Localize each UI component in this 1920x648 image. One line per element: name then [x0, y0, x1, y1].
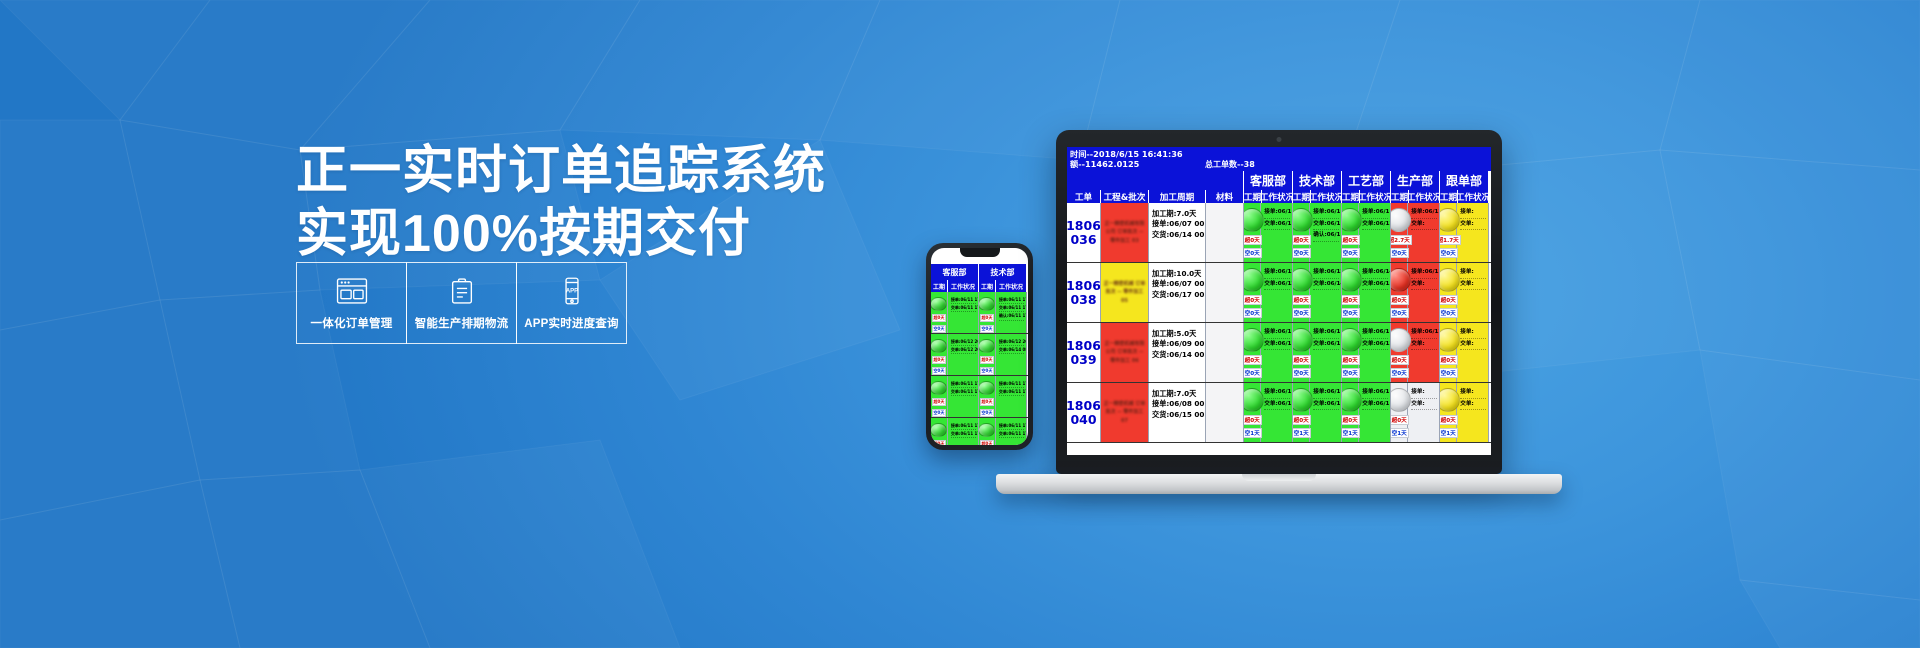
dept-header-3: 生产部: [1391, 171, 1440, 190]
over-days-tag: 超0天: [1293, 355, 1311, 365]
cycle-line: 交货:06/14 00: [1152, 230, 1203, 240]
dept-cell-4[interactable]: 超0天 空1天 接单:交单:: [1440, 383, 1489, 442]
dept-status-line: 交单:06/11 17: [951, 388, 976, 396]
order-number-part: 038: [1070, 293, 1096, 307]
dept-work-status: 接单:06/12 20交单:06/12 20: [948, 334, 978, 375]
col-header-status-2: 工作状况: [1360, 190, 1391, 203]
phone-notch: [960, 248, 1000, 257]
dept-duration: 超0天 空0天: [1293, 323, 1310, 382]
cycle-line: 加工期:10.0天: [1152, 269, 1203, 279]
idle-days-tag: 空0天: [1342, 368, 1360, 378]
webcam-icon: [1277, 137, 1282, 142]
dept-status-line: 交单:06/11 17: [999, 430, 1024, 438]
dept-status-line: 交单:06/11 17: [999, 304, 1024, 312]
dept-cell-0[interactable]: 超0天 空1天 接单:06/11 17交单:06/11 17: [1244, 383, 1293, 442]
dept-status-line: 接单:06/11 17: [1362, 387, 1388, 399]
dept-cell-2[interactable]: 超0天 空1天 接单:06/11 17交单:06/11 17: [1342, 383, 1391, 442]
erp-amount-label: 额--11462.0125: [1070, 159, 1183, 169]
idle-days-tag: 空0天: [932, 325, 947, 333]
project-batch-cell: 正一精密机械有限公司 订单批次 -- 零件加工 06: [1101, 323, 1149, 382]
dept-status-line: 接单:06/11 17: [951, 380, 976, 388]
phone-body: 客服部技术部工期 工作状况工期 工作状况 超0天 空0天 接单:06/11 17…: [926, 243, 1033, 450]
processing-cycle-cell: 加工期:7.0天接单:06/08 00交货:06/15 00: [1149, 383, 1206, 442]
project-batch-cell: 正一精密机械 订单批次 -- 零件加工 05: [1101, 263, 1149, 322]
dept-status-line: 接单:06/12 20: [1264, 267, 1290, 279]
idle-days-tag: 空0天: [1440, 368, 1458, 378]
order-number-part: 039: [1070, 353, 1096, 367]
order-number-part: 1806: [1067, 339, 1101, 353]
phone-table-body: 超0天 空0天 接单:06/11 17交单:06/11 17 超0天 空0天 接…: [931, 292, 1028, 445]
phone-col-status-0: 工作状况: [948, 280, 979, 292]
table-row[interactable]: 1806038 正一精密机械 订单批次 -- 零件加工 05 加工期:10.0天…: [1067, 263, 1491, 323]
idle-days-tag: 空0天: [1342, 248, 1360, 258]
cycle-line: 接单:06/07 00: [1152, 279, 1203, 289]
table-row[interactable]: 1806036 正一精密机械有限公司 订单批次 -- 零件加工 03 加工期:7…: [1067, 203, 1491, 263]
order-number-part: 040: [1070, 413, 1096, 427]
project-batch-text: 正一精密机械 订单批次 -- 零件加工 07: [1101, 400, 1148, 426]
over-days-tag: 超0天: [980, 314, 995, 322]
dept-work-status: 接单:06/12 20交单:06/14 08: [996, 334, 1026, 375]
dept-status-line: 接单:06/11 17: [999, 380, 1024, 388]
status-lamp-icon: [979, 423, 995, 437]
over-days-tag: 超0天: [1244, 355, 1262, 365]
idle-days-tag: 空1天: [1244, 428, 1262, 438]
dept-status-line: 交单:06/11 17: [1264, 339, 1290, 351]
dept-work-status: 接单:06/11 17交单:06/11 17: [1310, 383, 1341, 442]
dept-header-2: 工艺部: [1342, 171, 1391, 190]
processing-cycle-cell: 加工期:7.0天接单:06/07 00交货:06/14 00: [1149, 203, 1206, 262]
dept-work-status: 接单:交单:: [1457, 203, 1488, 262]
dept-status-line: 交单:: [1460, 399, 1486, 411]
dept-duration: 超0天 空0天: [1244, 263, 1261, 322]
dept-work-status: 接单:06/12 20交单:06/14 08: [1310, 263, 1341, 322]
dept-status-line: 接单:06/12 20: [951, 338, 976, 346]
phone-dept-header-1: 技术部: [979, 264, 1027, 280]
status-lamp-icon: [979, 297, 995, 311]
dept-status-line: 接单:06/11 17: [999, 296, 1024, 304]
dept-duration: 超0天 空1天: [1440, 383, 1457, 442]
dept-work-status: 接单:06/14 08交单:06/15 16: [1359, 263, 1390, 322]
dept-cell-3[interactable]: 超0天 空1天 接单:交单:: [1391, 383, 1440, 442]
dept-duration: 超0天 空0天: [1244, 203, 1261, 262]
dept-cell-3[interactable]: 超0天 空0天 接单:06/15 16交单:: [1391, 263, 1440, 322]
dept-status-line: 确认:06/11 17: [999, 312, 1024, 320]
dept-work-status: 接单:06/11 17交单:06/11 17: [996, 376, 1026, 417]
dept-status-line: 交单:06/14 08: [999, 346, 1024, 354]
dept-cell-2[interactable]: 超0天 空0天 接单:06/11 17交单:06/12 09: [1342, 323, 1391, 382]
phone-subheader-row: 工期 工作状况工期 工作状况: [931, 280, 1028, 292]
laptop-base: [996, 474, 1562, 494]
material-cell: [1206, 263, 1244, 322]
processing-cycle-cell: 加工期:10.0天接单:06/07 00交货:06/17 00: [1149, 263, 1206, 322]
over-days-tag: 超0天: [980, 398, 995, 406]
dept-duration: 超0天 空0天: [1342, 203, 1359, 262]
erp-topbar-left: 时间--2018/6/15 16:41:36 额--11462.0125: [1070, 149, 1183, 170]
dept-status-line: 接单:06/11 17: [1264, 327, 1290, 339]
dept-duration: 超0天 空0天: [1293, 263, 1310, 322]
cycle-line: 加工期:7.0天: [1152, 389, 1203, 399]
dept-header-spacer: [1067, 171, 1244, 190]
dept-duration: 超0天 空0天: [1391, 263, 1408, 322]
erp-order-tracking-table[interactable]: 时间--2018/6/15 16:41:36 额--11462.0125 总工单…: [1067, 147, 1491, 443]
over-days-tag: 超0天: [1440, 355, 1458, 365]
dept-status-line: 接单:06/12 20: [1313, 267, 1339, 279]
dept-duration: 超0天 空1天: [1293, 383, 1310, 442]
dept-work-status: 接单:06/12 20交单:06/12 20: [1261, 263, 1292, 322]
dept-cell-1[interactable]: 超0天 空0天 接单:06/12 20交单:06/14 08: [1293, 263, 1342, 322]
dept-status-line: 交单:: [1411, 339, 1437, 351]
dept-status-line: 交单:06/11 17: [1313, 399, 1339, 411]
material-cell: [1206, 383, 1244, 442]
dept-status-line: 交单:: [1460, 279, 1486, 291]
idle-days-tag: 空0天: [1244, 308, 1262, 318]
dept-duration: 超0天 空0天: [931, 292, 948, 333]
idle-days-tag: 空0天: [1440, 248, 1458, 258]
dept-duration: 超0天 空0天: [1440, 323, 1457, 382]
col-header-3: 材料: [1206, 190, 1244, 203]
dept-status-line: 交单:06/12 09: [1362, 339, 1388, 351]
status-lamp-icon: [931, 339, 947, 353]
dept-status-line: 交单:: [1411, 279, 1437, 291]
col-header-1: 工程&批次: [1101, 190, 1149, 203]
dept-work-status: 接单:交单:: [1457, 323, 1488, 382]
idle-days-tag: 空0天: [932, 409, 947, 417]
dept-duration: 超0天 空0天: [979, 292, 996, 333]
phone-dept-cell-1[interactable]: 超0天 空0天 接单:06/11 17交单:06/11 17确认:06/11 1…: [979, 292, 1027, 333]
dept-header-4: 跟单部: [1440, 171, 1489, 190]
cycle-line: 交货:06/17 00: [1152, 290, 1203, 300]
cycle-line: 交货:06/15 00: [1152, 410, 1203, 420]
dept-status-line: 交单:06/11 17: [951, 304, 976, 312]
erp-time-label: 时间--2018/6/15 16:41:36: [1070, 149, 1183, 159]
dept-status-line: 交单:06/11 17: [1313, 219, 1339, 231]
dept-work-status: 接单:06/11 17交单:06/11 17: [1261, 323, 1292, 382]
over-days-tag: 超0天: [1440, 415, 1458, 425]
dept-cell-4[interactable]: 超0天 空0天 接单:交单:: [1440, 323, 1489, 382]
dept-status-line: 接单:: [1460, 327, 1486, 339]
dept-duration: 超2.7天 空0天: [1391, 203, 1408, 262]
erp-total-orders-label: 总工单数--38: [1205, 159, 1255, 170]
project-batch-text: 正一精密机械 订单批次 -- 零件加工 05: [1101, 280, 1148, 306]
dept-cell-1[interactable]: 超0天 空1天 接单:06/11 17交单:06/11 17: [1293, 383, 1342, 442]
phone-dept-cell-1[interactable]: 超0天 空1天 接单:06/11 17交单:06/11 17: [979, 418, 1027, 445]
dept-status-line: 交单:: [1411, 399, 1437, 411]
over-days-tag: 超0天: [1293, 415, 1311, 425]
order-number-part: 036: [1070, 233, 1096, 247]
phone-dept-cell-0[interactable]: 超0天 空0天 接单:06/12 20交单:06/12 20: [931, 334, 979, 375]
dept-duration: 超0天 空0天: [1391, 323, 1408, 382]
dept-header-0: 客服部: [1244, 171, 1293, 190]
idle-days-tag: 空0天: [1293, 368, 1311, 378]
dept-status-line: 交单:06/11 17: [951, 430, 976, 438]
idle-days-tag: 空1天: [1293, 428, 1311, 438]
over-days-tag: 超0天: [1244, 295, 1262, 305]
order-number-part: 1806: [1067, 219, 1101, 233]
dept-work-status: 接单:06/12 09交单:: [1408, 323, 1439, 382]
over-days-tag: 超0天: [980, 440, 995, 445]
over-days-tag: 超0天: [1293, 235, 1311, 245]
phone-col-status-1: 工作状况: [996, 280, 1027, 292]
table-row[interactable]: 超0天 空0天 接单:06/12 20交单:06/12 20 超0天 空0天 接…: [931, 334, 1028, 376]
dept-status-line: 接单:06/12 09: [1411, 207, 1437, 219]
phone-col-duration-0: 工期: [931, 280, 948, 292]
idle-days-tag: 空0天: [1244, 368, 1262, 378]
dept-status-line: 接单:06/11 17: [1264, 387, 1290, 399]
dept-status-line: 接单:06/11 17: [1264, 207, 1290, 219]
dept-status-line: 接单:06/11 17: [951, 422, 976, 430]
idle-days-tag: 空0天: [1440, 308, 1458, 318]
over-days-tag: 超0天: [1342, 355, 1360, 365]
dept-duration: 超0天 空1天: [979, 418, 996, 445]
cycle-line: 加工期:5.0天: [1152, 329, 1203, 339]
phone-dept-cell-0[interactable]: 超0天 空0天 接单:06/11 17交单:06/11 17: [931, 376, 979, 417]
phone-erp-table[interactable]: 客服部技术部工期 工作状况工期 工作状况 超0天 空0天 接单:06/11 17…: [931, 248, 1028, 445]
dept-status-line: 交单:06/11 17: [999, 388, 1024, 396]
dept-work-status: 接单:06/11 17交单:06/11 17: [1359, 383, 1390, 442]
dept-status-line: 接单:06/15 16: [1411, 267, 1437, 279]
dept-status-line: 交单:06/11 17: [1313, 339, 1339, 351]
over-days-tag: 超0天: [1293, 295, 1311, 305]
dept-status-line: 交单:06/12 20: [951, 346, 976, 354]
cycle-line: 加工期:7.0天: [1152, 209, 1203, 219]
erp-topbar: 时间--2018/6/15 16:41:36 额--11462.0125 总工单…: [1067, 147, 1491, 171]
dept-cell-1[interactable]: 超0天 空0天 接单:06/11 17交单:06/11 17确认:06/11 1…: [1293, 203, 1342, 262]
over-days-tag: 超0天: [1342, 235, 1360, 245]
laptop-screen: 时间--2018/6/15 16:41:36 额--11462.0125 总工单…: [1067, 147, 1491, 455]
dept-status-line: 接单:: [1460, 387, 1486, 399]
cycle-line: 交货:06/14 00: [1152, 350, 1203, 360]
dept-status-line: 接单:06/11 17: [1313, 387, 1339, 399]
dept-work-status: 接单:06/11 17交单:06/12 09: [1359, 323, 1390, 382]
dept-status-line: 接单:06/11 17: [1313, 327, 1339, 339]
phone-dept-cell-1[interactable]: 超0天 空0天 接单:06/12 20交单:06/14 08: [979, 334, 1027, 375]
over-days-tag: 超0天: [1440, 295, 1458, 305]
idle-days-tag: 空0天: [980, 325, 995, 333]
idle-days-tag: 空1天: [1342, 428, 1360, 438]
phone-department-row: 客服部技术部: [931, 264, 1028, 280]
material-cell: [1206, 323, 1244, 382]
laptop-mockup: 时间--2018/6/15 16:41:36 额--11462.0125 总工单…: [1056, 130, 1502, 474]
laptop-lid: 时间--2018/6/15 16:41:36 额--11462.0125 总工单…: [1056, 130, 1502, 474]
order-number-part: 1806: [1067, 399, 1101, 413]
promo-banner: 正一实时订单追踪系统 实现100%按期交付 一体化订单管理: [0, 0, 1920, 648]
dept-duration: 超0天 空0天: [1342, 263, 1359, 322]
dept-status-line: 接单:06/12 09: [1411, 327, 1437, 339]
over-days-tag: 超0天: [1342, 295, 1360, 305]
idle-days-tag: 空0天: [980, 409, 995, 417]
order-number-cell: 1806039: [1067, 323, 1101, 382]
dept-work-status: 接单:06/11 17交单:06/12 09: [1359, 203, 1390, 262]
over-days-tag: 超0天: [980, 356, 995, 364]
phone-dept-cell-1[interactable]: 超0天 空0天 接单:06/11 17交单:06/11 17: [979, 376, 1027, 417]
over-days-tag: 超0天: [932, 314, 947, 322]
idle-days-tag: 空0天: [1342, 308, 1360, 318]
dept-status-line: 接单:: [1460, 267, 1486, 279]
dept-status-line: 交单:06/11 17: [1264, 219, 1290, 231]
idle-days-tag: 空0天: [1391, 248, 1409, 258]
dept-header-1: 技术部: [1293, 171, 1342, 190]
dept-duration: 超0天 空1天: [1244, 383, 1261, 442]
dept-duration: 超0天 空0天: [979, 334, 996, 375]
dept-cell-0[interactable]: 超0天 空0天 接单:06/12 20交单:06/12 20: [1244, 263, 1293, 322]
dept-duration: 超0天 空0天: [979, 376, 996, 417]
dept-status-line: 确认:06/11 17: [1313, 230, 1339, 242]
dept-cell-4[interactable]: 超0天 空0天 接单:交单:: [1440, 263, 1489, 322]
over-days-tag: 超0天: [932, 440, 947, 445]
idle-days-tag: 空1天: [1440, 428, 1458, 438]
dept-duration: 超0天 空1天: [1391, 383, 1408, 442]
dept-cell-1[interactable]: 超0天 空0天 接单:06/11 17交单:06/11 17: [1293, 323, 1342, 382]
dept-cell-3[interactable]: 超0天 空0天 接单:06/12 09交单:: [1391, 323, 1440, 382]
table-row[interactable]: 超0天 空0天 接单:06/11 17交单:06/11 17 超0天 空0天 接…: [931, 376, 1028, 418]
erp-department-row: 客服部技术部工艺部生产部跟单部: [1067, 171, 1491, 190]
processing-cycle-cell: 加工期:5.0天接单:06/09 00交货:06/14 00: [1149, 323, 1206, 382]
cycle-line: 接单:06/09 00: [1152, 339, 1203, 349]
dept-work-status: 接单:交单:: [1457, 383, 1488, 442]
dept-work-status: 接单:06/11 17交单:06/11 17确认:06/11 17: [996, 292, 1026, 333]
dept-cell-2[interactable]: 超0天 空0天 接单:06/11 17交单:06/12 09: [1342, 203, 1391, 262]
dept-duration: 超0天 空0天: [1293, 203, 1310, 262]
dept-status-line: 接单:06/12 20: [999, 338, 1024, 346]
dept-duration: 超0天 空0天: [931, 376, 948, 417]
idle-days-tag: 空0天: [1391, 368, 1409, 378]
dept-cell-0[interactable]: 超0天 空0天 接单:06/11 17交单:06/11 17: [1244, 203, 1293, 262]
dept-duration: 超0天 空0天: [931, 334, 948, 375]
dept-cell-3[interactable]: 超2.7天 空0天 接单:06/12 09交单:: [1391, 203, 1440, 262]
dept-work-status: 接单:06/12 09交单:: [1408, 203, 1439, 262]
dept-work-status: 接单:06/11 17交单:06/11 17: [948, 376, 978, 417]
idle-days-tag: 空0天: [1293, 248, 1311, 258]
dept-status-line: 交单:06/15 16: [1362, 279, 1388, 291]
dept-duration: 超0天 空0天: [1244, 323, 1261, 382]
idle-days-tag: 空0天: [932, 367, 947, 375]
material-cell: [1206, 203, 1244, 262]
col-header-2: 加工周期: [1149, 190, 1206, 203]
device-mockups: 客服部技术部工期 工作状况工期 工作状况 超0天 空0天 接单:06/11 17…: [0, 0, 1920, 648]
erp-subheader-row: 工单工程&批次加工周期材料工期 工作状况工期 工作状况工期 工作状况工期 工作状…: [1067, 190, 1491, 203]
phone-screen: 客服部技术部工期 工作状况工期 工作状况 超0天 空0天 接单:06/11 17…: [931, 248, 1028, 445]
dept-status-line: 接单:06/11 17: [951, 296, 976, 304]
dept-work-status: 接单:06/11 17交单:06/11 17: [1310, 323, 1341, 382]
status-lamp-icon: [931, 381, 947, 395]
over-days-tag: 超0天: [932, 398, 947, 406]
over-days-tag: 超0天: [932, 356, 947, 364]
idle-days-tag: 空0天: [980, 367, 995, 375]
idle-days-tag: 空0天: [1293, 308, 1311, 318]
dept-status-line: 接单:06/11 17: [999, 422, 1024, 430]
table-row[interactable]: 1806040 正一精密机械 订单批次 -- 零件加工 07 加工期:7.0天接…: [1067, 383, 1491, 443]
dept-work-status: 接单:06/11 17交单:06/11 17: [1261, 203, 1292, 262]
status-lamp-icon: [931, 423, 947, 437]
idle-days-tag: 空0天: [1391, 308, 1409, 318]
col-header-status-4: 工作状况: [1458, 190, 1489, 203]
dept-work-status: 接单:06/11 17交单:06/11 17: [1261, 383, 1292, 442]
col-header-status-3: 工作状况: [1409, 190, 1440, 203]
dept-duration: 超0天 空1天: [931, 418, 948, 445]
dept-status-line: 交单:: [1411, 219, 1437, 231]
dept-work-status: 接单:06/11 17交单:06/11 17: [996, 418, 1026, 445]
dept-duration: 超0天 空0天: [1440, 263, 1457, 322]
project-batch-cell: 正一精密机械 订单批次 -- 零件加工 07: [1101, 383, 1149, 442]
table-row[interactable]: 1806039 正一精密机械有限公司 订单批次 -- 零件加工 06 加工期:5…: [1067, 323, 1491, 383]
dept-status-line: 接单:06/14 08: [1362, 267, 1388, 279]
dept-work-status: 接单:06/11 17交单:06/11 17: [948, 418, 978, 445]
dept-status-line: 接单:06/11 17: [1362, 327, 1388, 339]
dept-work-status: 接单:交单:: [1408, 383, 1439, 442]
order-number-cell: 1806036: [1067, 203, 1101, 262]
project-batch-text: 正一精密机械有限公司 订单批次 -- 零件加工 03: [1101, 220, 1148, 246]
laptop-base-notch: [1242, 474, 1316, 481]
erp-table-body: 1806036 正一精密机械有限公司 订单批次 -- 零件加工 03 加工期:7…: [1067, 203, 1491, 443]
col-header-status-0: 工作状况: [1262, 190, 1293, 203]
dept-status-line: 接单:: [1460, 207, 1486, 219]
order-number-cell: 1806038: [1067, 263, 1101, 322]
order-number-part: 1806: [1067, 279, 1101, 293]
dept-cell-2[interactable]: 超0天 空0天 接单:06/14 08交单:06/15 16: [1342, 263, 1391, 322]
status-lamp-icon: [979, 381, 995, 395]
dept-status-line: 交单:: [1460, 339, 1486, 351]
dept-status-line: 交单:06/12 20: [1264, 279, 1290, 291]
project-batch-text: 正一精密机械有限公司 订单批次 -- 零件加工 06: [1101, 340, 1148, 366]
dept-status-line: 交单:06/12 09: [1362, 219, 1388, 231]
dept-cell-4[interactable]: 超1.7天 空0天 接单:交单:: [1440, 203, 1489, 262]
cycle-line: 接单:06/08 00: [1152, 399, 1203, 409]
order-number-cell: 1806040: [1067, 383, 1101, 442]
dept-status-line: 交单:06/11 17: [1264, 399, 1290, 411]
phone-dept-cell-0[interactable]: 超0天 空1天 接单:06/11 17交单:06/11 17: [931, 418, 979, 445]
over-days-tag: 超0天: [1244, 235, 1262, 245]
dept-status-line: 接单:06/11 17: [1362, 207, 1388, 219]
dept-status-line: 接单:06/11 17: [1313, 207, 1339, 219]
idle-days-tag: 空1天: [1391, 428, 1409, 438]
cycle-line: 接单:06/07 00: [1152, 219, 1203, 229]
idle-days-tag: 空0天: [1244, 248, 1262, 258]
dept-duration: 超1.7天 空0天: [1440, 203, 1457, 262]
phone-dept-cell-0[interactable]: 超0天 空0天 接单:06/11 17交单:06/11 17: [931, 292, 979, 333]
dept-duration: 超0天 空1天: [1342, 383, 1359, 442]
dept-status-line: 交单:: [1460, 219, 1486, 231]
project-batch-cell: 正一精密机械有限公司 订单批次 -- 零件加工 03: [1101, 203, 1149, 262]
phone-col-duration-1: 工期: [979, 280, 996, 292]
dept-work-status: 接单:06/15 16交单:: [1408, 263, 1439, 322]
col-header-0: 工单: [1067, 190, 1101, 203]
phone-dept-header-0: 客服部: [931, 264, 979, 280]
table-row[interactable]: 超0天 空1天 接单:06/11 17交单:06/11 17 超0天 空1天 接…: [931, 418, 1028, 445]
over-days-tag: 超0天: [1244, 415, 1262, 425]
dept-duration: 超0天 空0天: [1342, 323, 1359, 382]
dept-work-status: 接单:交单:: [1457, 263, 1488, 322]
dept-status-line: 交单:06/11 17: [1362, 399, 1388, 411]
dept-work-status: 接单:06/11 17交单:06/11 17确认:06/11 17: [1310, 203, 1341, 262]
over-days-tag: 超0天: [1391, 295, 1409, 305]
dept-status-line: 接单:: [1411, 387, 1437, 399]
table-row[interactable]: 超0天 空0天 接单:06/11 17交单:06/11 17 超0天 空0天 接…: [931, 292, 1028, 334]
status-lamp-icon: [931, 297, 947, 311]
over-days-tag: 超0天: [1391, 355, 1409, 365]
col-header-status-1: 工作状况: [1311, 190, 1342, 203]
over-days-tag: 超0天: [1391, 415, 1409, 425]
phone-mockup: 客服部技术部工期 工作状况工期 工作状况 超0天 空0天 接单:06/11 17…: [926, 243, 1033, 450]
dept-status-line: 交单:06/14 08: [1313, 279, 1339, 291]
dept-cell-0[interactable]: 超0天 空0天 接单:06/11 17交单:06/11 17: [1244, 323, 1293, 382]
status-lamp-icon: [979, 339, 995, 353]
dept-work-status: 接单:06/11 17交单:06/11 17: [948, 292, 978, 333]
over-days-tag: 超0天: [1342, 415, 1360, 425]
